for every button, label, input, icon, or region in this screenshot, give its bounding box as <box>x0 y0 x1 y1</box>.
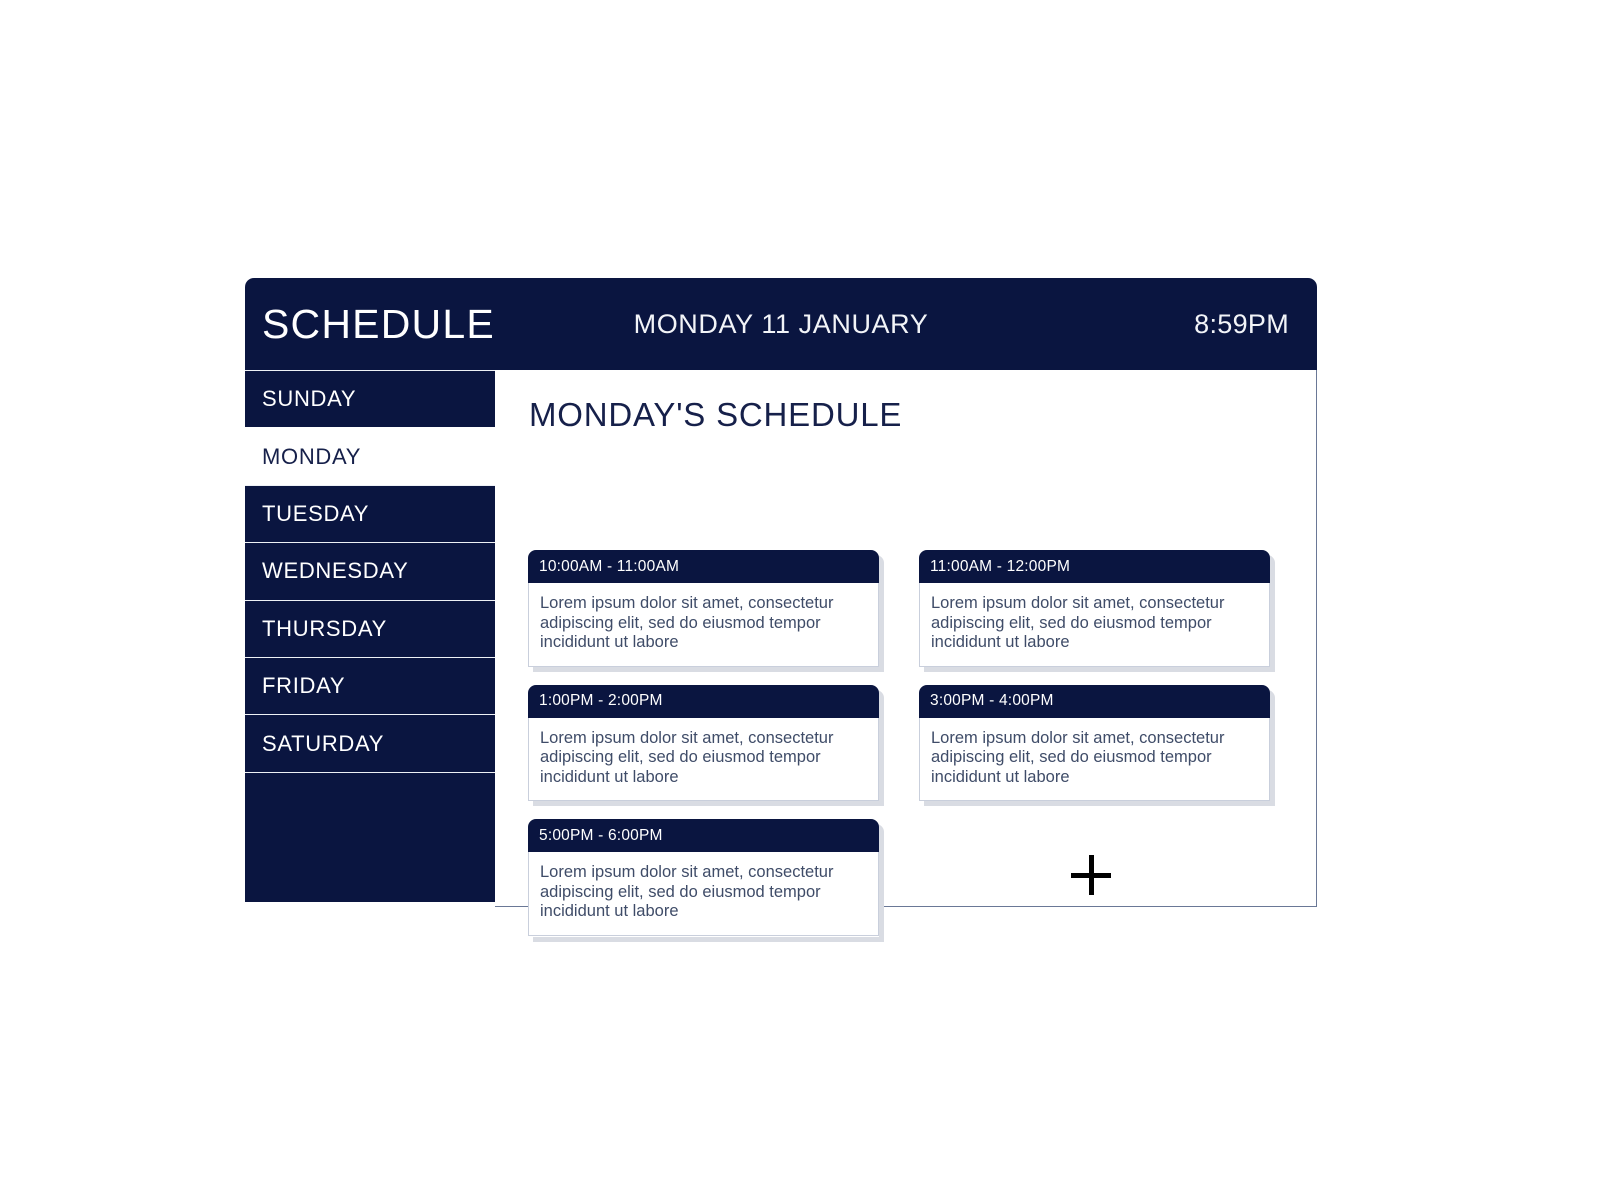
event-description: Lorem ipsum dolor sit amet, consectetur … <box>528 718 879 802</box>
sidebar-item-label: SUNDAY <box>262 386 356 412</box>
event-description: Lorem ipsum dolor sit amet, consectetur … <box>528 583 879 667</box>
sidebar-item-label: FRIDAY <box>262 673 345 699</box>
sidebar-item-label: WEDNESDAY <box>262 558 408 584</box>
sidebar-item-label: MONDAY <box>262 444 361 470</box>
header-time: 8:59PM <box>1194 308 1289 340</box>
event-card[interactable]: 3:00PM - 4:00PM Lorem ipsum dolor sit am… <box>919 685 1270 802</box>
schedule-heading: MONDAY'S SCHEDULE <box>529 395 902 435</box>
event-card[interactable]: 1:00PM - 2:00PM Lorem ipsum dolor sit am… <box>528 685 879 802</box>
sidebar-item-monday[interactable]: MONDAY <box>245 427 495 484</box>
sidebar: SUNDAY MONDAY TUESDAY WEDNESDAY THURSDAY… <box>245 370 495 902</box>
event-time: 10:00AM - 11:00AM <box>528 550 879 583</box>
sidebar-item-label: THURSDAY <box>262 616 387 642</box>
event-time: 11:00AM - 12:00PM <box>919 550 1270 583</box>
app-header: SCHEDULE MONDAY 11 JANUARY 8:59PM <box>245 278 1317 370</box>
add-event-slot <box>919 819 1270 937</box>
sidebar-item-sunday[interactable]: SUNDAY <box>245 370 495 427</box>
event-time: 5:00PM - 6:00PM <box>528 819 879 852</box>
day-nav-list: SUNDAY MONDAY TUESDAY WEDNESDAY THURSDAY… <box>245 370 495 882</box>
event-description: Lorem ipsum dolor sit amet, consectetur … <box>528 852 879 936</box>
event-description: Lorem ipsum dolor sit amet, consectetur … <box>919 718 1270 802</box>
schedule-app: SCHEDULE MONDAY 11 JANUARY 8:59PM SUNDAY… <box>245 278 1317 902</box>
sidebar-item-thursday[interactable]: THURSDAY <box>245 600 495 657</box>
sidebar-filler <box>245 772 495 882</box>
sidebar-item-friday[interactable]: FRIDAY <box>245 657 495 714</box>
event-card[interactable]: 11:00AM - 12:00PM Lorem ipsum dolor sit … <box>919 550 1270 667</box>
content-panel: MONDAY'S SCHEDULE 10:00AM - 11:00AM Lore… <box>495 370 1317 907</box>
event-grid: 10:00AM - 11:00AM Lorem ipsum dolor sit … <box>528 550 1288 937</box>
sidebar-item-saturday[interactable]: SATURDAY <box>245 714 495 771</box>
event-card[interactable]: 5:00PM - 6:00PM Lorem ipsum dolor sit am… <box>528 819 879 937</box>
sidebar-item-label: SATURDAY <box>262 731 384 757</box>
plus-icon[interactable] <box>1071 855 1111 895</box>
event-card[interactable]: 10:00AM - 11:00AM Lorem ipsum dolor sit … <box>528 550 879 667</box>
sidebar-item-label: TUESDAY <box>262 501 369 527</box>
sidebar-item-tuesday[interactable]: TUESDAY <box>245 485 495 542</box>
event-time: 1:00PM - 2:00PM <box>528 685 879 718</box>
event-description: Lorem ipsum dolor sit amet, consectetur … <box>919 583 1270 667</box>
event-time: 3:00PM - 4:00PM <box>919 685 1270 718</box>
header-date: MONDAY 11 JANUARY <box>245 308 1317 340</box>
sidebar-item-wednesday[interactable]: WEDNESDAY <box>245 542 495 599</box>
